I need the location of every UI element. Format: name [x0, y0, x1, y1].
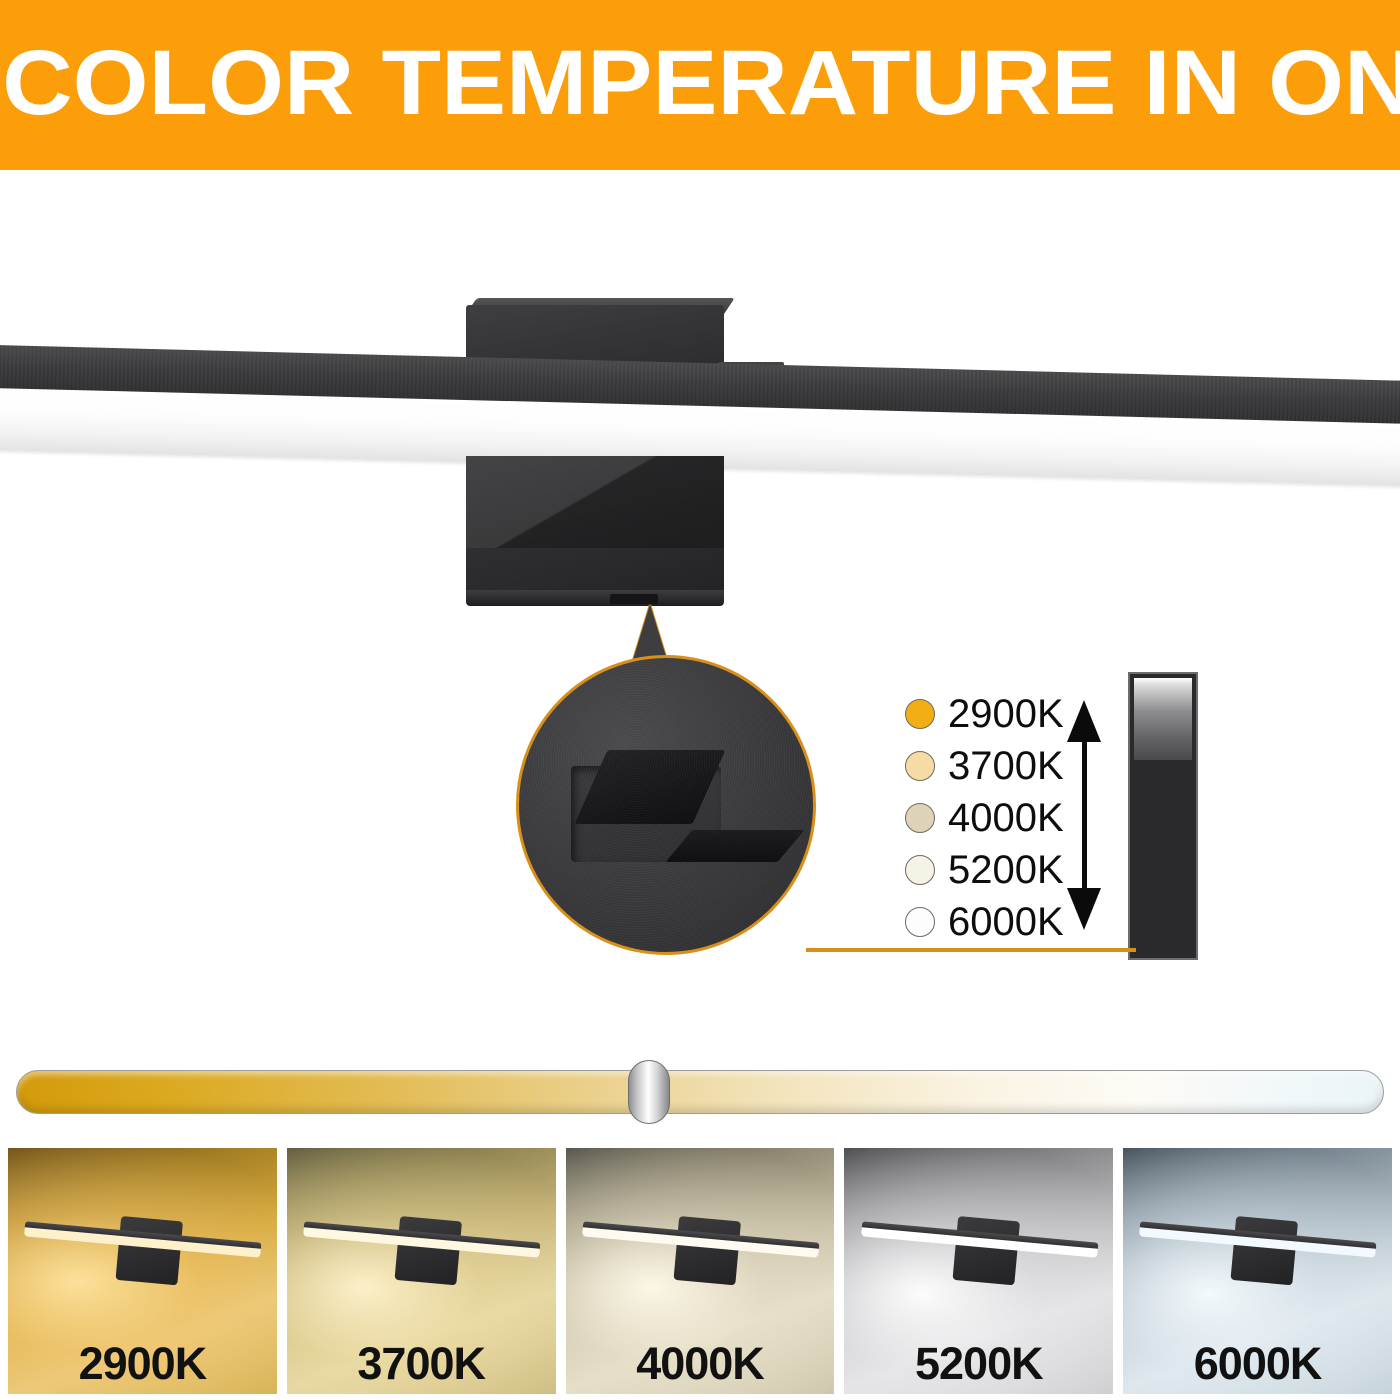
thumb-label-2900k: 2900K — [8, 1341, 277, 1386]
swatch-6000k — [905, 907, 935, 937]
legend-item-3700k: 3700K — [905, 740, 1075, 792]
bracket-shadow — [466, 456, 724, 548]
thumb-bracket-3700k — [394, 1216, 462, 1285]
legend-item-6000k: 6000K — [905, 896, 1075, 948]
arrow-head-down-icon — [1067, 888, 1101, 930]
thumb-label-4000k: 4000K — [566, 1341, 835, 1386]
up-down-arrow-icon — [1067, 700, 1101, 930]
switch-lever — [666, 830, 805, 862]
thumbnail-6000k: 6000K — [1123, 1148, 1392, 1394]
thumb-bracket-2900k — [115, 1216, 183, 1285]
banner-title: 5 COLOR TEMPERATURE IN ONE — [0, 37, 1400, 133]
thumb-label-6000k: 6000K — [1123, 1341, 1392, 1386]
swatch-5200k — [905, 855, 935, 885]
color-temperature-slider-knob[interactable] — [628, 1060, 670, 1124]
thumb-bracket-4000k — [673, 1216, 741, 1285]
slide-switch-knob[interactable] — [1134, 678, 1192, 760]
thumb-bracket-5200k — [952, 1216, 1020, 1285]
switch-magnifier-callout — [516, 655, 816, 955]
legend-label-6000k: 6000K — [948, 902, 1064, 942]
legend-label-4000k: 4000K — [948, 798, 1064, 838]
switch-recess — [610, 594, 658, 604]
legend-label-3700k: 3700K — [948, 746, 1064, 786]
thumb-bracket-6000k — [1230, 1216, 1298, 1285]
thumbnail-2900k: 2900K — [8, 1148, 277, 1394]
slide-switch-graphic[interactable] — [1128, 672, 1198, 960]
bracket-bottom-face — [466, 590, 724, 606]
color-temperature-slider-track[interactable] — [16, 1070, 1384, 1114]
switch-body — [575, 750, 726, 824]
legend-item-5200k: 5200K — [905, 844, 1075, 896]
thumbnail-row: 2900K 3700K 4000K — [8, 1148, 1392, 1394]
legend-label-5200k: 5200K — [948, 850, 1064, 890]
swatch-3700k — [905, 751, 935, 781]
header-banner: 5 COLOR TEMPERATURE IN ONE — [0, 0, 1400, 170]
arrow-shaft — [1082, 724, 1087, 906]
legend-item-2900k: 2900K — [905, 688, 1075, 740]
infographic-page: 5 COLOR TEMPERATURE IN ONE 2900K 3700K — [0, 0, 1400, 1400]
thumbnail-5200k: 5200K — [844, 1148, 1113, 1394]
callout-connector-line — [806, 948, 1136, 952]
thumb-label-3700k: 3700K — [287, 1341, 556, 1386]
thumbnail-4000k: 4000K — [566, 1148, 835, 1394]
thumbnail-3700k: 3700K — [287, 1148, 556, 1394]
hero-product-image — [0, 170, 1400, 640]
swatch-4000k — [905, 803, 935, 833]
swatch-2900k — [905, 699, 935, 729]
legend-item-4000k: 4000K — [905, 792, 1075, 844]
thumb-label-5200k: 5200K — [844, 1341, 1113, 1386]
legend-label-2900k: 2900K — [948, 694, 1064, 734]
switch-cavity — [571, 766, 721, 862]
temperature-legend: 2900K 3700K 4000K 5200K 6000K — [905, 688, 1075, 948]
